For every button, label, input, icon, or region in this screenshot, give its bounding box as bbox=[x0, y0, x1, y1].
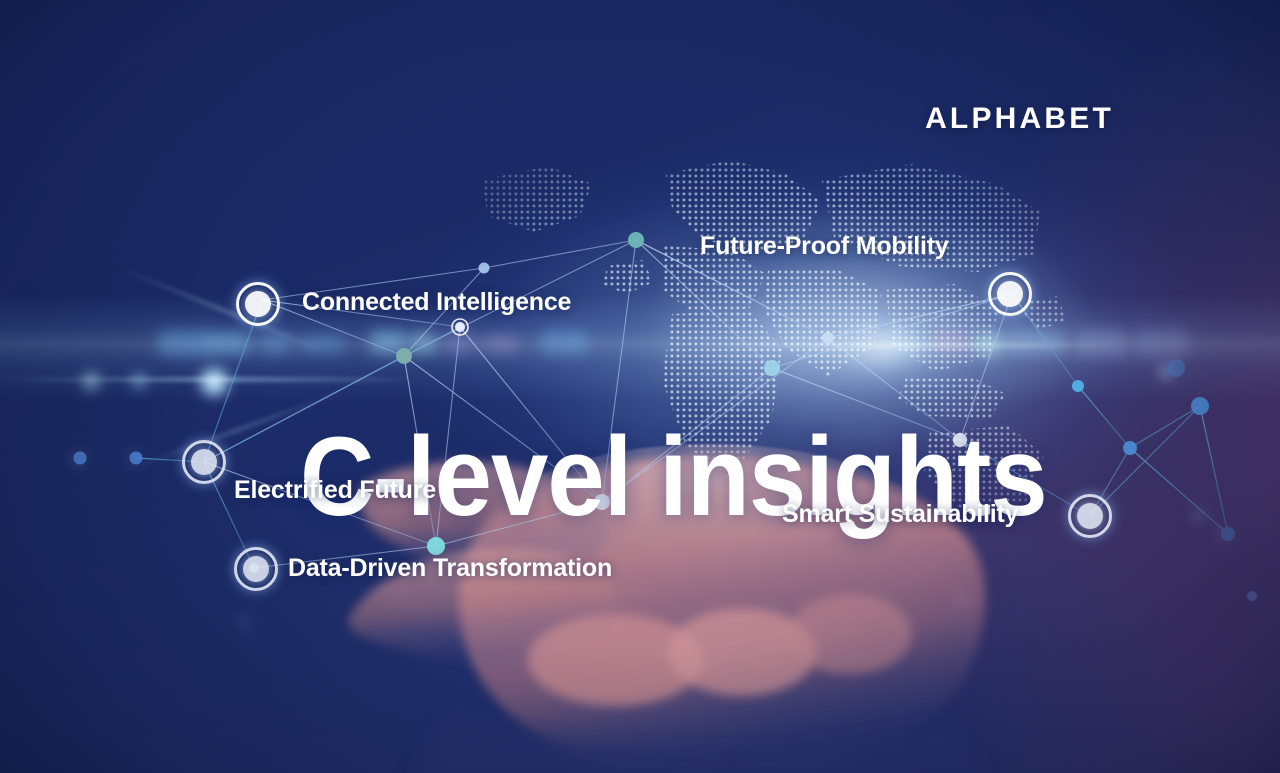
label-electrified-future[interactable]: Electrified Future bbox=[234, 476, 436, 505]
brand-logo: ALPHABET bbox=[925, 102, 1114, 136]
hero-banner: ALPHABET C-level insights Connected Inte… bbox=[0, 0, 1280, 773]
marker-connected-intelligence[interactable] bbox=[236, 282, 280, 326]
label-smart-sustainability[interactable]: Smart Sustainability bbox=[782, 500, 1018, 529]
label-connected-intelligence[interactable]: Connected Intelligence bbox=[302, 288, 571, 317]
label-future-proof-mobility[interactable]: Future-Proof Mobility bbox=[700, 232, 949, 261]
marker-future-proof-mobility[interactable] bbox=[988, 272, 1032, 316]
label-data-driven-transformation[interactable]: Data-Driven Transformation bbox=[288, 554, 612, 583]
marker-electrified-future[interactable] bbox=[182, 440, 226, 484]
marker-smart-sustainability[interactable] bbox=[1068, 494, 1112, 538]
marker-data-driven-transformation[interactable] bbox=[234, 547, 278, 591]
